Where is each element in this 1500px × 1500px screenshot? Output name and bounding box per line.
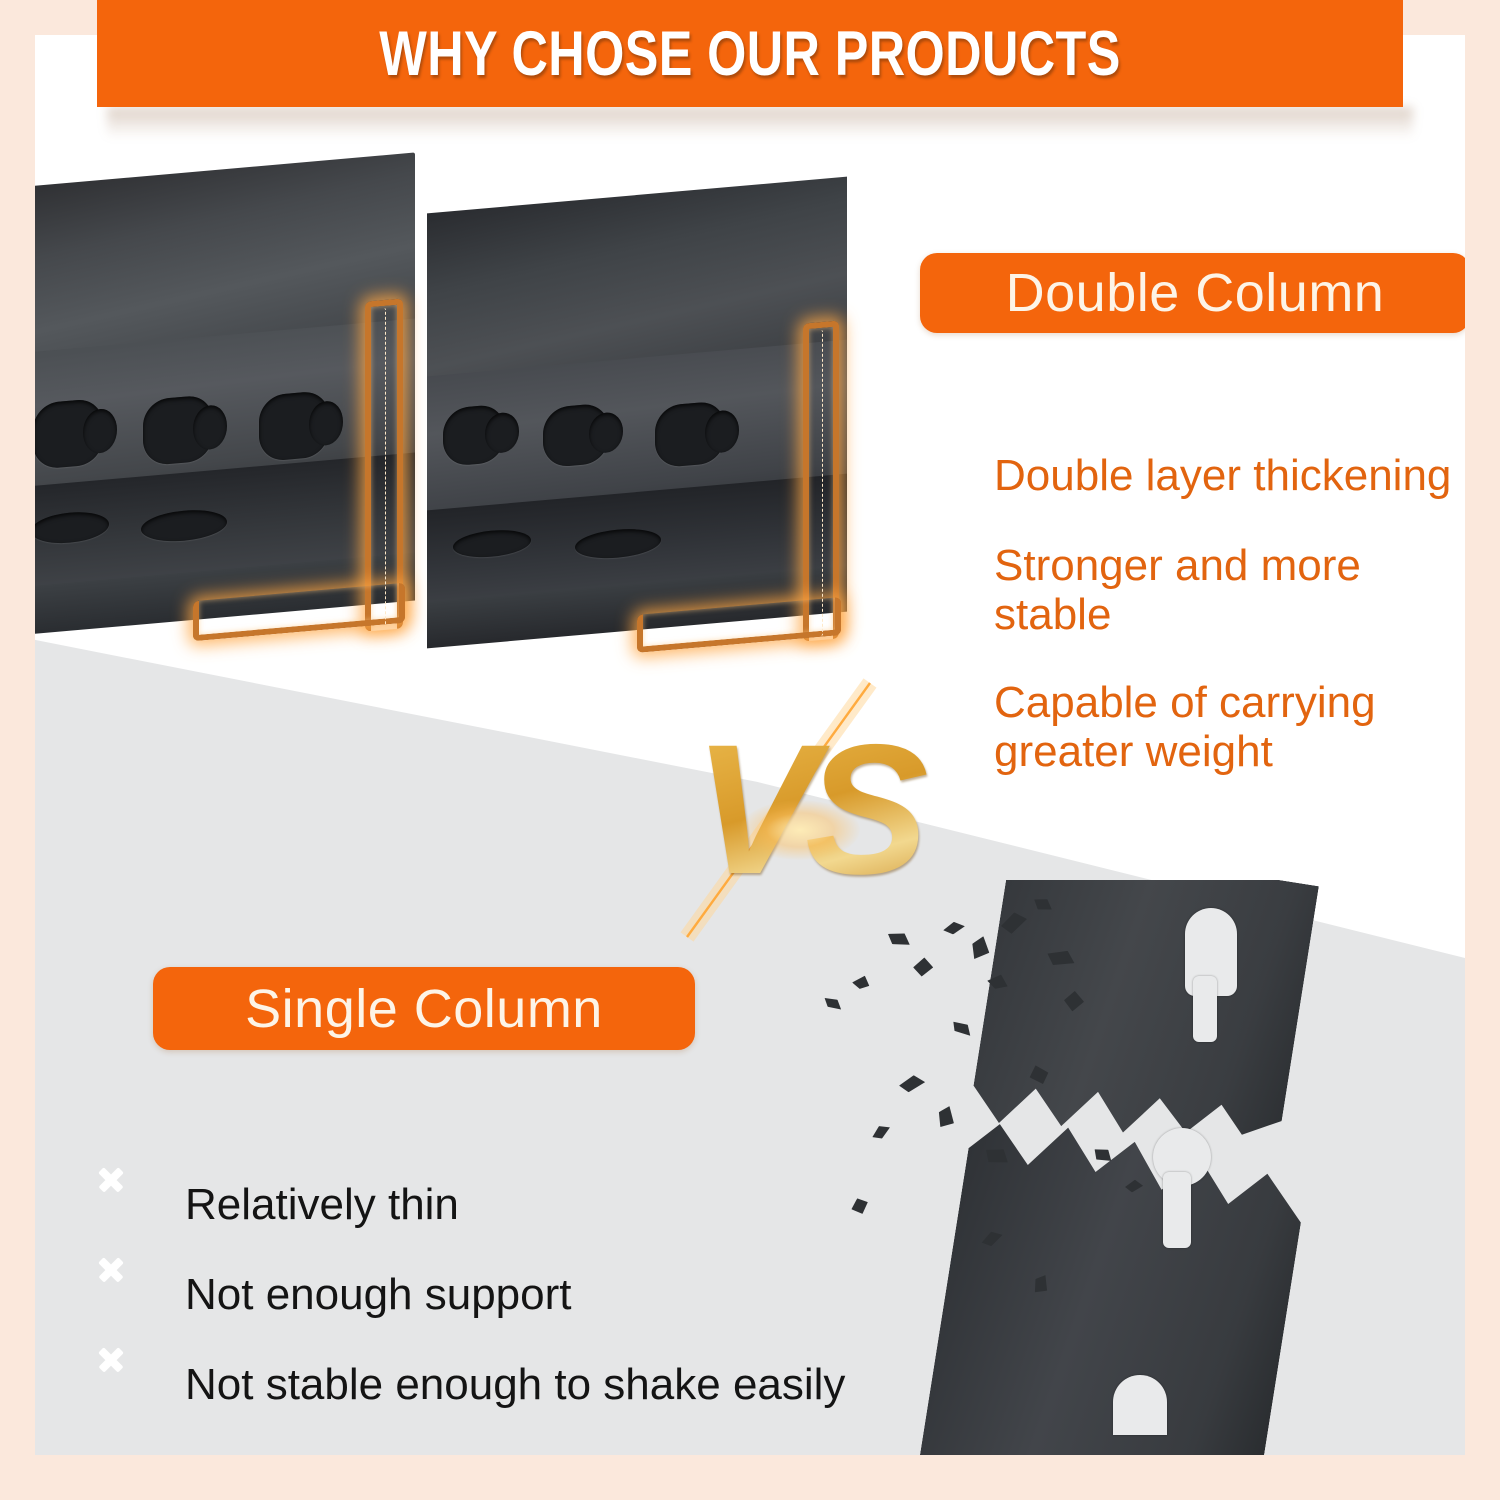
oval-slot xyxy=(453,527,531,560)
oval-slot xyxy=(141,507,227,545)
title-banner: WHY CHOSE OUR PRODUCTS xyxy=(97,0,1403,107)
content-plate: VS Double Column Double layer thickening… xyxy=(35,35,1465,1455)
check-icon xyxy=(920,451,972,503)
list-item: Double layer thickening xyxy=(920,451,1465,503)
versus-label: VS xyxy=(635,675,975,945)
list-item: Relatively thin xyxy=(111,1180,913,1232)
fold-dash-line xyxy=(819,330,823,636)
bullet-label: Not stable enough to shake easily xyxy=(185,1360,845,1409)
list-item: Stronger and more stable xyxy=(920,541,1465,640)
cross-icon xyxy=(111,1360,163,1412)
cross-icon xyxy=(111,1270,163,1322)
banner-shadow xyxy=(107,107,1413,141)
page-title: WHY CHOSE OUR PRODUCTS xyxy=(228,0,1273,107)
cross-icon xyxy=(111,1180,163,1232)
oval-slot xyxy=(575,526,661,562)
bullet-label: Capable of carrying greater weight xyxy=(994,678,1424,777)
oval-slot xyxy=(35,509,109,546)
keyhole-slot xyxy=(443,404,505,467)
double-column-bullet-list: Double layer thickening Stronger and mor… xyxy=(920,451,1465,776)
keyhole-slot xyxy=(655,400,725,468)
bullet-label: Relatively thin xyxy=(185,1180,459,1229)
single-column-badge: Single Column xyxy=(153,967,695,1050)
keyhole-slot xyxy=(143,394,213,466)
page-frame: VS Double Column Double layer thickening… xyxy=(0,0,1500,1500)
versus-emblem: VS xyxy=(635,675,975,945)
debris-shard xyxy=(933,1105,960,1131)
debris-shard xyxy=(911,956,934,978)
keyhole-slot xyxy=(259,390,329,462)
single-column-panel: Single Column Relatively thin Not enough… xyxy=(153,967,913,1412)
check-icon xyxy=(920,541,972,593)
list-item: Not enough support xyxy=(111,1270,913,1322)
fold-dash-line xyxy=(382,308,386,626)
double-column-beam-photo xyxy=(35,140,835,660)
keyhole-slot xyxy=(35,398,103,470)
keyhole-slot-stem xyxy=(1163,1172,1191,1248)
bullet-label: Not enough support xyxy=(185,1270,572,1319)
list-item: Not stable enough to shake easily xyxy=(111,1360,913,1412)
keyhole-slot-stem xyxy=(1193,976,1217,1042)
list-item: Capable of carrying greater weight xyxy=(920,678,1465,777)
double-column-panel: Double Column Double layer thickening St… xyxy=(920,253,1465,776)
bullet-label: Stronger and more stable xyxy=(994,541,1465,640)
single-column-bullet-list: Relatively thin Not enough support Not s… xyxy=(111,1180,913,1412)
keyhole-slot xyxy=(1113,1375,1167,1435)
double-column-badge: Double Column xyxy=(920,253,1465,333)
bullet-label: Double layer thickening xyxy=(994,451,1451,500)
debris-shard xyxy=(949,1017,974,1041)
keyhole-slot xyxy=(543,402,609,468)
